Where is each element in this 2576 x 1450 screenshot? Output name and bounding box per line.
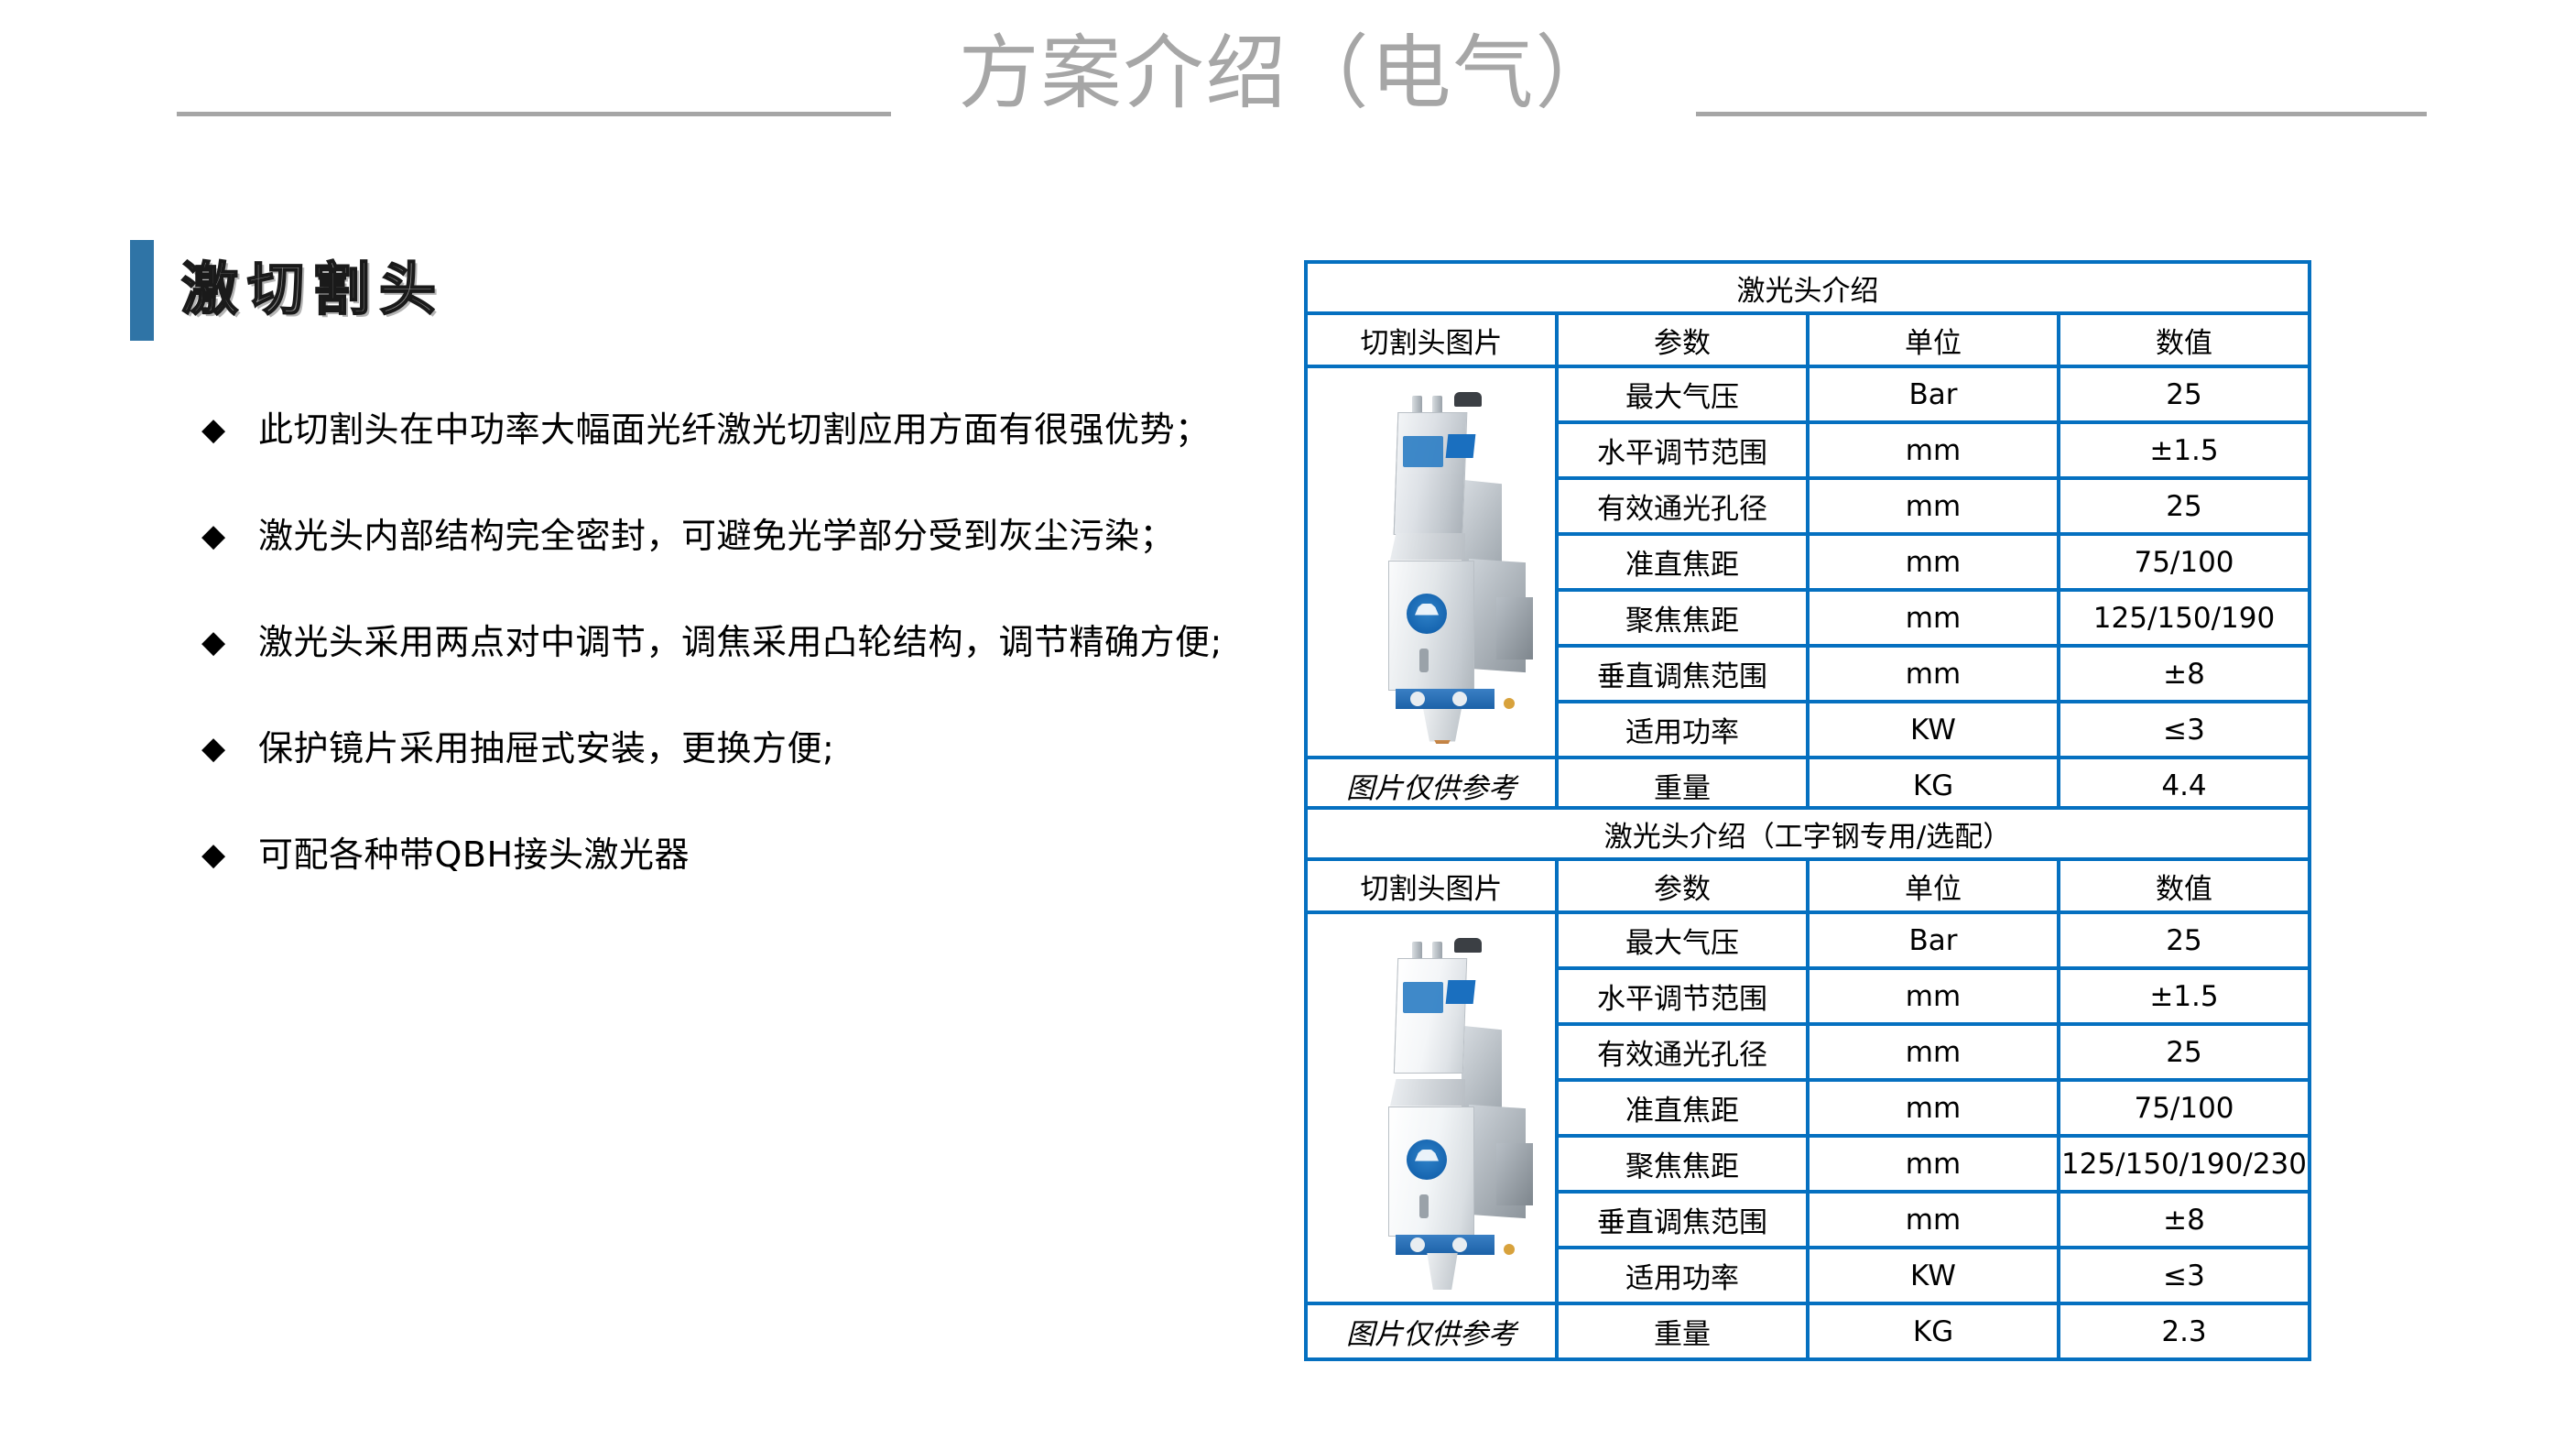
table-title: 激光头介绍 <box>1306 262 2310 313</box>
spec-table-ibeam-optional: 激光头介绍（工字钢专用/选配） 切割头图片 参数 单位 数值 <box>1304 806 2311 1361</box>
brand-logo-icon <box>1407 1139 1447 1180</box>
clamp-screw <box>1410 1237 1425 1252</box>
column-header-param: 参数 <box>1557 859 1808 912</box>
param-unit: KG <box>1808 1303 2059 1359</box>
param-value: ≤3 <box>2059 702 2310 758</box>
blue-label <box>1403 436 1443 467</box>
list-item-label: 激光头采用两点对中调节，调焦采用凸轮结构，调节精确方便; <box>258 606 1245 678</box>
param-unit: KG <box>1808 758 2059 813</box>
title-band: 方案介绍（电气） <box>0 0 2576 165</box>
diamond-bullet-icon: ◆ <box>201 819 258 890</box>
table-header-row: 切割头图片 参数 单位 数值 <box>1306 859 2310 912</box>
table-row: 图片仅供参考 重量 KG 4.4 <box>1306 758 2310 813</box>
param-unit: mm <box>1808 478 2059 534</box>
nozzle-tip <box>1434 740 1451 744</box>
list-item-label: 保护镜片采用抽屉式安装，更换方便; <box>258 713 1245 784</box>
param-value: ±1.5 <box>2059 968 2310 1024</box>
param-value: 75/100 <box>2059 1080 2310 1136</box>
feature-bullet-list: ◆ 此切割头在中功率大幅面光纤激光切割应用方面有很强优势； ◆ 激光头内部结构完… <box>201 394 1245 899</box>
param-unit: mm <box>1808 1080 2059 1136</box>
diamond-bullet-icon: ◆ <box>201 713 258 784</box>
connector-pin <box>1412 942 1422 960</box>
section-accent-bar <box>130 240 154 341</box>
clamp-screw <box>1452 1237 1467 1252</box>
spacer <box>201 687 1245 713</box>
laser-head-photo <box>1306 912 1557 1303</box>
clamp-screw <box>1410 692 1425 706</box>
param-unit: mm <box>1808 1136 2059 1192</box>
brand-logo-icon <box>1407 594 1447 634</box>
image-caption: 图片仅供参考 <box>1306 758 1557 813</box>
param-value: 75/100 <box>2059 534 2310 590</box>
param-unit: KW <box>1808 1248 2059 1303</box>
gas-connectors <box>1410 942 1452 960</box>
list-item: ◆ 此切割头在中功率大幅面光纤激光切割应用方面有很强优势； <box>201 394 1245 465</box>
list-item-label: 激光头内部结构完全密封，可避免光学部分受到灰尘污染； <box>258 500 1245 572</box>
laser-head-illustration <box>1308 927 1599 1290</box>
table-row: 最大气压 Bar 25 <box>1306 366 2310 422</box>
param-value: 25 <box>2059 366 2310 422</box>
connector-pin <box>1432 942 1442 960</box>
table-header-row: 切割头图片 参数 单位 数值 <box>1306 313 2310 366</box>
image-caption: 图片仅供参考 <box>1306 1303 1557 1359</box>
top-cap <box>1454 392 1482 407</box>
clamp-screw <box>1452 692 1467 706</box>
column-header-value: 数值 <box>2059 313 2310 366</box>
param-unit: mm <box>1808 422 2059 478</box>
list-item: ◆ 激光头内部结构完全密封，可避免光学部分受到灰尘污染； <box>201 500 1245 572</box>
nozzle-body <box>1419 709 1465 742</box>
connector-pin <box>1412 396 1422 414</box>
param-unit: mm <box>1808 646 2059 702</box>
blue-label-side <box>1446 980 1476 1004</box>
param-value: ±8 <box>2059 646 2310 702</box>
mechanism-block-a <box>1462 1025 1502 1117</box>
column-header-unit: 单位 <box>1808 313 2059 366</box>
list-item: ◆ 激光头采用两点对中调节，调焦采用凸轮结构，调节精确方便; <box>201 606 1245 678</box>
nozzle-body <box>1423 1253 1462 1290</box>
table-title-row: 激光头介绍 <box>1306 262 2310 313</box>
spec-table-standard: 激光头介绍 切割头图片 参数 单位 数值 <box>1304 260 2311 815</box>
spacer <box>201 474 1245 500</box>
table-title: 激光头介绍（工字钢专用/选配） <box>1306 808 2310 859</box>
blue-label-side <box>1446 434 1476 458</box>
table-row: 图片仅供参考 重量 KG 2.3 <box>1306 1303 2310 1359</box>
mechanism-block-a <box>1462 479 1502 572</box>
diamond-bullet-icon: ◆ <box>201 606 258 678</box>
column-header-param: 参数 <box>1557 313 1808 366</box>
param-unit: mm <box>1808 534 2059 590</box>
table-row: 最大气压 Bar 25 <box>1306 912 2310 968</box>
mid-skirt <box>1390 533 1465 561</box>
amber-fitting <box>1504 698 1515 709</box>
param-unit: mm <box>1808 590 2059 646</box>
connector-pin <box>1432 396 1442 414</box>
param-name: 重量 <box>1557 1303 1808 1359</box>
param-unit: mm <box>1808 1024 2059 1080</box>
upper-housing <box>1394 412 1468 535</box>
param-value: 25 <box>2059 1024 2310 1080</box>
laser-head-photo <box>1306 366 1557 758</box>
param-value: ±1.5 <box>2059 422 2310 478</box>
upper-housing <box>1394 958 1467 1074</box>
param-unit: mm <box>1808 1192 2059 1248</box>
column-header-image: 切割头图片 <box>1306 859 1557 912</box>
mechanism-block-c <box>1496 1143 1533 1205</box>
param-unit: Bar <box>1808 366 2059 422</box>
list-item: ◆ 保护镜片采用抽屉式安装，更换方便; <box>201 713 1245 784</box>
inspection-slot <box>1419 649 1429 672</box>
mid-skirt <box>1390 1079 1465 1107</box>
diamond-bullet-icon: ◆ <box>201 500 258 572</box>
amber-fitting <box>1504 1244 1515 1255</box>
page-title: 方案介绍（电气） <box>0 18 2576 128</box>
column-header-unit: 单位 <box>1808 859 2059 912</box>
column-header-image: 切割头图片 <box>1306 313 1557 366</box>
param-value: ±8 <box>2059 1192 2310 1248</box>
spacer <box>201 793 1245 819</box>
param-value: 25 <box>2059 478 2310 534</box>
gas-connectors <box>1410 396 1452 414</box>
list-item-label: 此切割头在中功率大幅面光纤激光切割应用方面有很强优势； <box>258 394 1245 465</box>
param-name: 重量 <box>1557 758 1808 813</box>
laser-head-illustration <box>1308 381 1599 744</box>
param-unit: KW <box>1808 702 2059 758</box>
mechanism-block-c <box>1496 597 1533 660</box>
param-value: ≤3 <box>2059 1248 2310 1303</box>
spacer <box>201 581 1245 606</box>
left-content-panel: 激切割头 ◆ 此切割头在中功率大幅面光纤激光切割应用方面有很强优势； ◆ 激光头… <box>0 211 1282 1218</box>
table-title-row: 激光头介绍（工字钢专用/选配） <box>1306 808 2310 859</box>
top-cap <box>1454 938 1482 953</box>
param-value: 25 <box>2059 912 2310 968</box>
param-value: 2.3 <box>2059 1303 2310 1359</box>
param-value: 125/150/190/230 <box>2059 1136 2310 1192</box>
param-value: 125/150/190 <box>2059 590 2310 646</box>
blue-label <box>1403 982 1443 1013</box>
list-item-label: 可配各种带QBH接头激光器 <box>258 819 1245 890</box>
inspection-slot <box>1419 1194 1429 1218</box>
section-heading: 激切割头 <box>181 245 445 333</box>
list-item: ◆ 可配各种带QBH接头激光器 <box>201 819 1245 890</box>
param-unit: Bar <box>1808 912 2059 968</box>
diamond-bullet-icon: ◆ <box>201 394 258 465</box>
param-value: 4.4 <box>2059 758 2310 813</box>
param-unit: mm <box>1808 968 2059 1024</box>
column-header-value: 数值 <box>2059 859 2310 912</box>
